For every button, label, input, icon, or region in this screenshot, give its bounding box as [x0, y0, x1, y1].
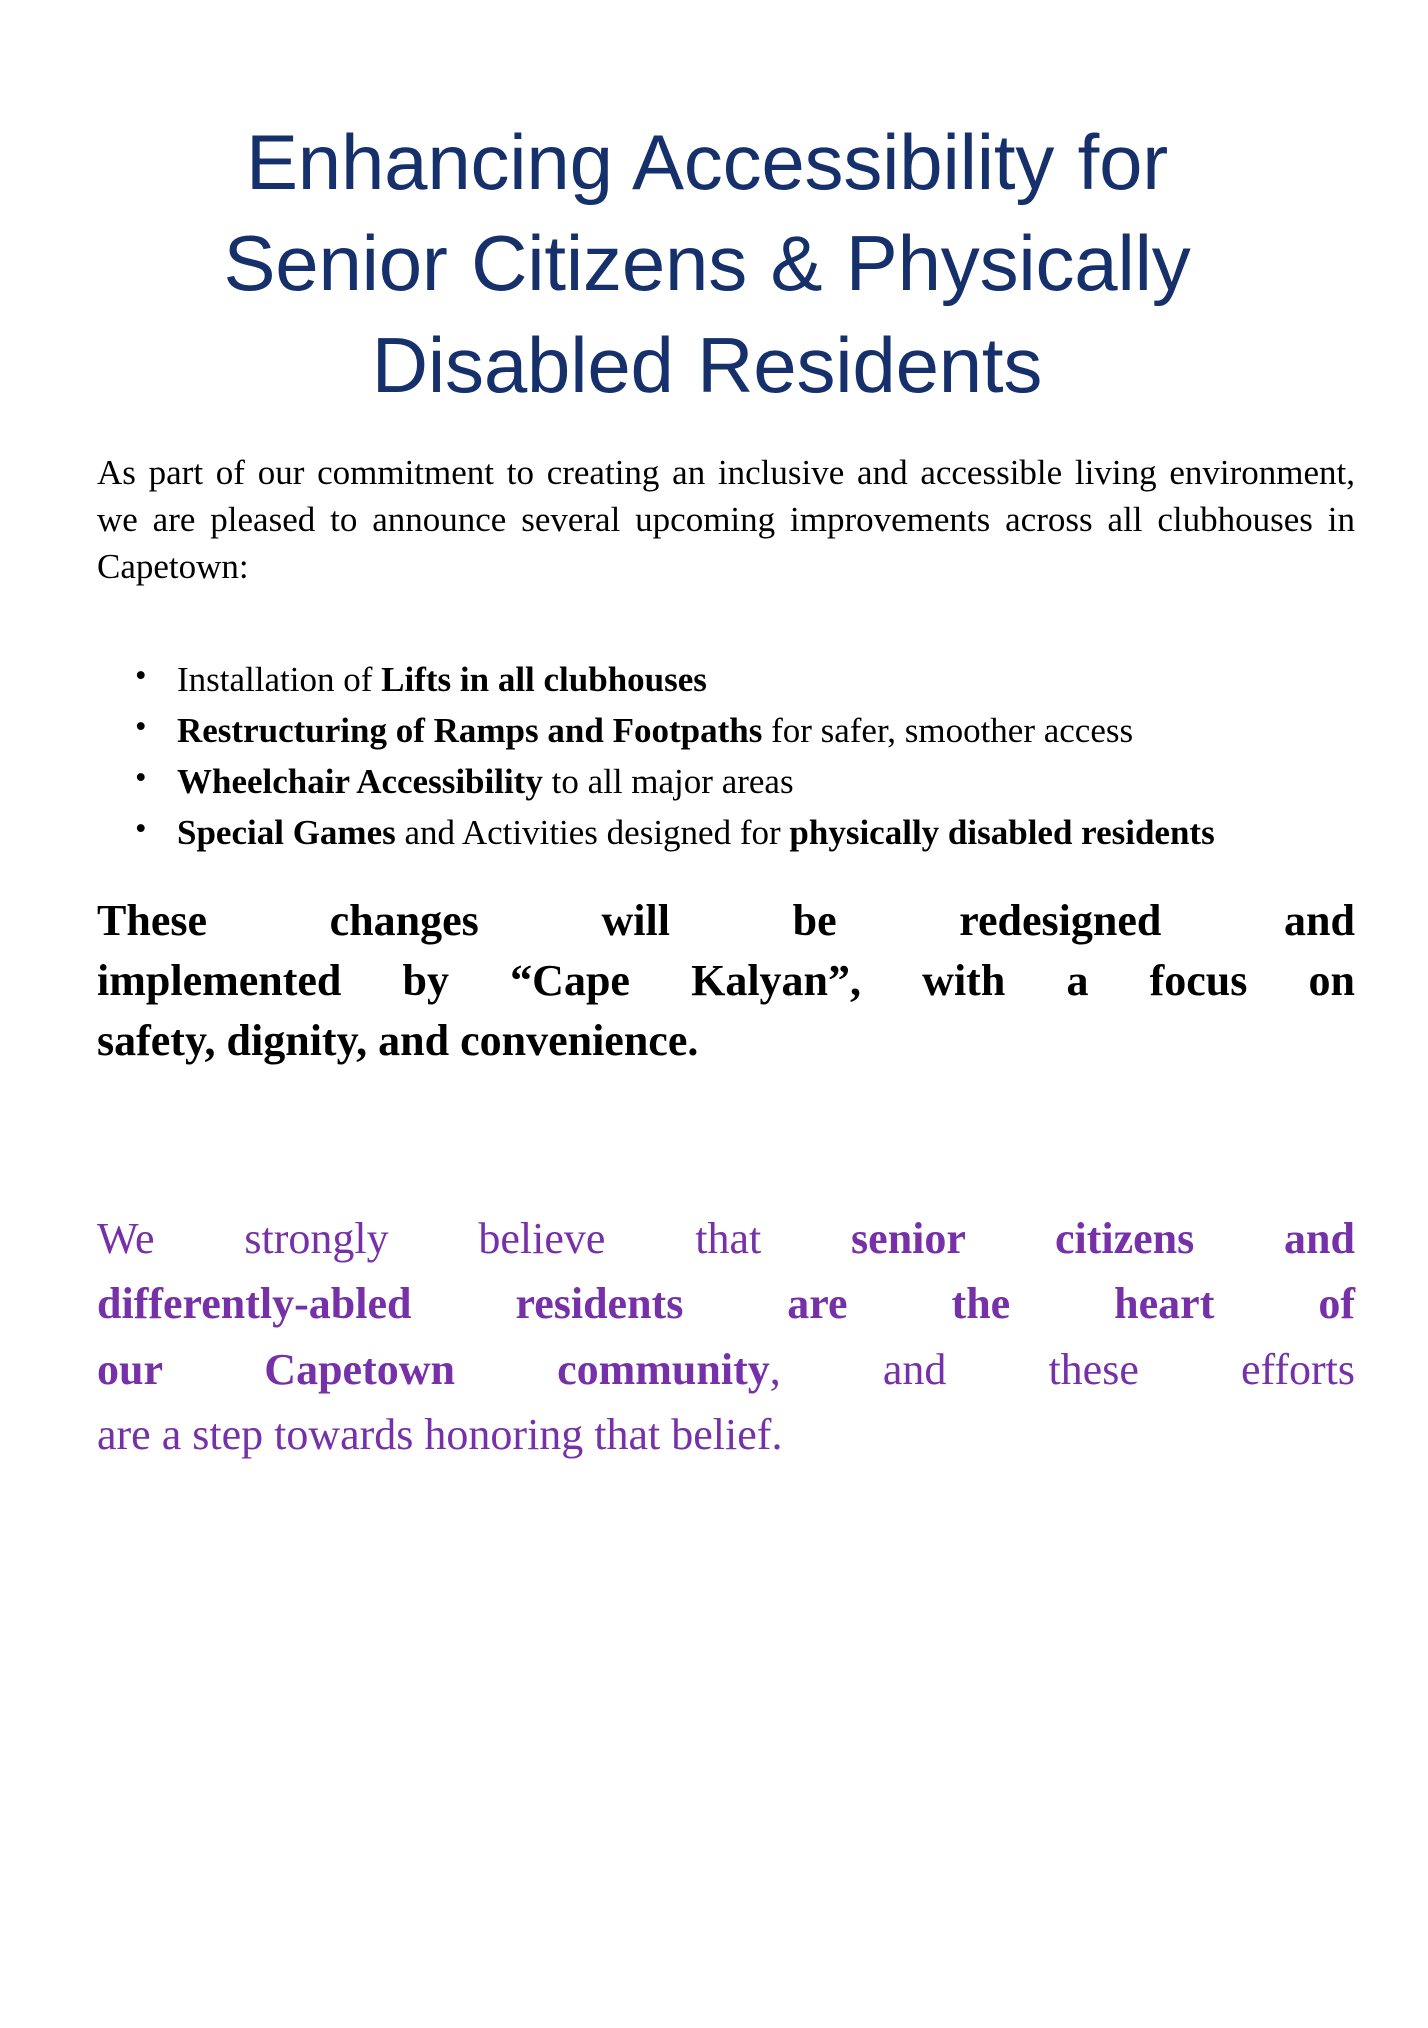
closing-paragraph: We strongly believe that senior citizens… — [97, 1206, 1355, 1466]
page-title-line-2: Senior Citizens & Physically — [97, 213, 1317, 314]
document-content: Enhancing Accessibility for Senior Citiz… — [97, 0, 1393, 1467]
page-title: Enhancing Accessibility for Senior Citiz… — [97, 0, 1317, 416]
emphasis-paragraph: These changes will be redesigned and imp… — [97, 891, 1355, 1070]
list-item-text-bold: Lifts in all clubhouses — [381, 660, 707, 699]
emphasis-line-1: These changes will be redesigned and — [97, 891, 1355, 951]
document-page: Enhancing Accessibility for Senior Citiz… — [0, 0, 1428, 2028]
emphasis-line-2: implemented by “Cape Kalyan”, with a foc… — [97, 951, 1355, 1011]
emphasis-line-3: safety, dignity, and convenience. — [97, 1011, 1355, 1071]
closing-line-1: We strongly believe that senior citizens… — [97, 1206, 1355, 1271]
closing-line-2-bold: differently-abled residents are the hear… — [97, 1279, 1355, 1328]
improvements-list: Installation of Lifts in all clubhouses … — [97, 655, 1355, 857]
list-item: Installation of Lifts in all clubhouses — [97, 655, 1355, 704]
list-item: Special Games and Activities designed fo… — [97, 808, 1355, 857]
page-title-line-1: Enhancing Accessibility for — [97, 112, 1317, 213]
closing-line-3-plain: , and these efforts — [770, 1345, 1355, 1394]
list-item-text-plain: and Activities designed for — [396, 813, 790, 852]
list-item-text-plain: to all major areas — [543, 762, 794, 801]
closing-line-3: our Capetown community, and these effort… — [97, 1337, 1355, 1402]
closing-line-3-bold: our Capetown community — [97, 1345, 770, 1394]
list-item: Restructuring of Ramps and Footpaths for… — [97, 706, 1355, 755]
closing-line-1-plain: We strongly believe that — [97, 1214, 851, 1263]
closing-line-1-bold: senior citizens and — [851, 1214, 1355, 1263]
page-title-line-3: Disabled Residents — [97, 315, 1317, 416]
list-item-text-plain: for safer, smoother access — [762, 711, 1133, 750]
closing-line-4: are a step towards honoring that belief. — [97, 1402, 1355, 1467]
closing-line-2: differently-abled residents are the hear… — [97, 1271, 1355, 1336]
list-item-text-bold: Wheelchair Accessibility — [177, 762, 543, 801]
intro-paragraph: As part of our commitment to creating an… — [97, 450, 1355, 591]
list-item-text-bold: Special Games — [177, 813, 396, 852]
list-item-text-bold-2: physically disabled residents — [789, 813, 1214, 852]
list-item: Wheelchair Accessibility to all major ar… — [97, 757, 1355, 806]
list-item-text-bold: Restructuring of Ramps and Footpaths — [177, 711, 762, 750]
list-item-text-plain: Installation of — [177, 660, 381, 699]
